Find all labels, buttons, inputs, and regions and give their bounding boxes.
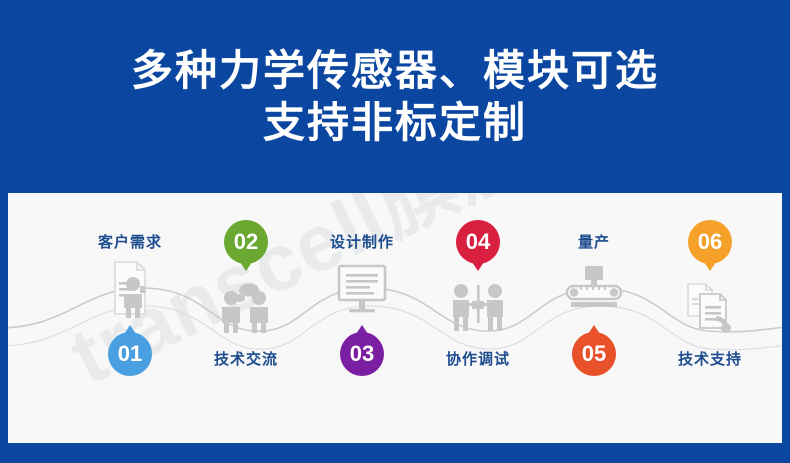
step-06-number: 06 [698,229,722,255]
step-05-badge[interactable]: 05 [572,332,616,376]
step-06[interactable]: 06 [652,220,768,369]
step-01[interactable]: 客户需求 [72,231,188,376]
two-people-chat-icon [188,276,304,338]
step-05[interactable]: 量产 [536,231,652,376]
step-04-label: 协作调试 [420,348,536,369]
step-05-label: 量产 [536,231,652,252]
two-people-equipment-icon [420,276,536,338]
step-04-number: 04 [466,229,490,255]
page-root: 多种力学传感器、模块可选 支持非标定制 transcell旗舰店 客户需求 [0,0,790,463]
step-01-badge[interactable]: 01 [108,332,152,376]
step-02-label: 技术交流 [188,348,304,369]
step-03-number: 03 [350,341,374,367]
step-02-badge[interactable]: 02 [224,220,268,264]
step-05-number: 05 [582,341,606,367]
step-01-number: 01 [118,341,142,367]
step-04-badge[interactable]: 04 [456,220,500,264]
document-person-icon [72,258,188,320]
step-06-label: 技术支持 [652,348,768,369]
step-03[interactable]: 设计制作 03 [304,231,420,376]
process-flow-panel: transcell旗舰店 客户需求 [8,193,782,443]
step-06-badge[interactable]: 06 [688,220,732,264]
page-title-line-1: 多种力学传感器、模块可选 [131,45,659,96]
documents-phone-icon [652,276,768,338]
conveyor-belt-icon [536,258,652,320]
step-02-number: 02 [234,229,258,255]
step-01-label: 客户需求 [72,231,188,252]
step-04[interactable]: 04 [420,220,536,369]
step-02[interactable]: 02 [188,220,304,369]
step-03-badge[interactable]: 03 [340,332,384,376]
page-title-line-2: 支持非标定制 [263,97,527,148]
monitor-icon [304,258,420,320]
step-03-label: 设计制作 [304,231,420,252]
header-banner: 多种力学传感器、模块可选 支持非标定制 [0,0,790,193]
